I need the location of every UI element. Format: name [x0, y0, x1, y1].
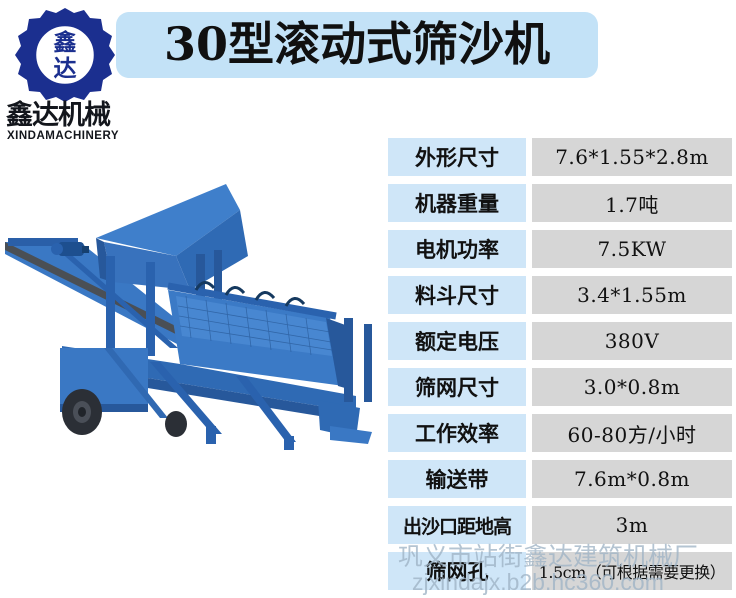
spec-value: 3m [532, 506, 732, 544]
brand-name-en: XINDAMACHINERY [4, 130, 136, 143]
spec-label: 料斗尺寸 [388, 276, 526, 314]
spec-label: 外形尺寸 [388, 138, 526, 176]
svg-text:鑫: 鑫 [53, 29, 77, 56]
spec-value: 380V [532, 322, 732, 360]
spec-value: 60-80方/小时 [532, 414, 732, 452]
table-row: 工作效率 60-80方/小时 [388, 414, 732, 452]
page-title: 30型滚动式筛沙机 [164, 19, 550, 72]
spec-label: 额定电压 [388, 322, 526, 360]
brand-wordmark: 鑫达机械 XINDAMACHINERY [4, 102, 136, 146]
svg-text:达: 达 [54, 56, 77, 82]
table-row: 额定电压 380V [388, 322, 732, 360]
brand-logo: 鑫 达 鑫达机械 XINDAMACHINERY [4, 4, 134, 144]
spec-value: 3.4*1.55m [532, 276, 732, 314]
spec-label: 输送带 [388, 460, 526, 498]
table-row: 外形尺寸 7.6*1.55*2.8m [388, 138, 732, 176]
spec-value: 7.5KW [532, 230, 732, 268]
spec-label: 工作效率 [388, 414, 526, 452]
spec-value: 1.7吨 [532, 184, 732, 222]
table-row: 出沙口距地高 3m [388, 506, 732, 544]
spec-label: 机器重量 [388, 184, 526, 222]
spec-label: 筛网孔 [388, 552, 526, 590]
spec-label: 电机功率 [388, 230, 526, 268]
gear-logo-icon: 鑫 达 [10, 4, 120, 104]
spec-value: 7.6*1.55*2.8m [532, 138, 732, 176]
spec-value: 3.0*0.8m [532, 368, 732, 406]
table-row: 输送带 7.6m*0.8m [388, 460, 732, 498]
spec-value: 1.5cm（可根据需要更换） [532, 552, 732, 590]
table-row: 筛网孔 1.5cm（可根据需要更换） [388, 552, 732, 590]
spec-label: 筛网尺寸 [388, 368, 526, 406]
brand-name-cn: 鑫达机械 [4, 102, 136, 130]
table-row: 电机功率 7.5KW [388, 230, 732, 268]
product-spec-page: 鑫 达 鑫达机械 XINDAMACHINERY 30型滚动式筛沙机 [0, 0, 736, 596]
table-row: 筛网尺寸 3.0*0.8m [388, 368, 732, 406]
table-row: 料斗尺寸 3.4*1.55m [388, 276, 732, 314]
spec-value: 7.6m*0.8m [532, 460, 732, 498]
table-row: 机器重量 1.7吨 [388, 184, 732, 222]
title-banner: 30型滚动式筛沙机 [116, 12, 598, 78]
spec-label: 出沙口距地高 [388, 506, 526, 544]
product-photo [0, 150, 382, 450]
spec-table: 外形尺寸 7.6*1.55*2.8m 机器重量 1.7吨 电机功率 7.5KW … [388, 138, 732, 598]
